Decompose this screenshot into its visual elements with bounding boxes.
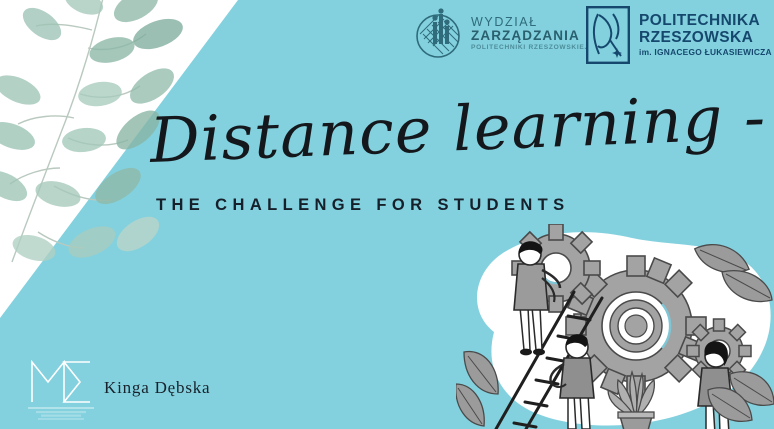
logo-wydzial-line3: POLITECHNIKI RZESZOWSKIEJ bbox=[471, 45, 589, 52]
wydzial-zarzadzania-emblem-icon bbox=[413, 8, 463, 60]
slide-subtitle: THE CHALLENGE FOR STUDENTS bbox=[156, 196, 570, 215]
politechnika-rzeszowska-emblem-icon bbox=[586, 6, 630, 64]
logo-politechnika-text: POLITECHNIKA RZESZOWSKA im. IGNACEGO ŁUK… bbox=[639, 13, 772, 57]
slide-title: Distance learning - bbox=[149, 81, 752, 182]
logo-wydzial-text: WYDZIAŁ ZARZĄDZANIA POLITECHNIKI RZESZOW… bbox=[471, 16, 589, 52]
author-name: Kinga Dębska bbox=[104, 378, 210, 398]
logo-politechnika-line1: POLITECHNIKA bbox=[639, 13, 772, 30]
logo-politechnika-line2: RZESZOWSKA bbox=[639, 30, 772, 47]
logo-wydzial-zarzadzania: WYDZIAŁ ZARZĄDZANIA POLITECHNIKI RZESZOW… bbox=[413, 8, 589, 60]
logo-wydzial-line2: ZARZĄDZANIA bbox=[471, 29, 589, 43]
presentation-slide: WYDZIAŁ ZARZĄDZANIA POLITECHNIKI RZESZOW… bbox=[0, 0, 774, 429]
logo-politechnika-line3: im. IGNACEGO ŁUKASIEWICZA bbox=[639, 48, 772, 57]
me-monogram-logo-icon bbox=[24, 348, 98, 420]
logo-politechnika-rzeszowska: POLITECHNIKA RZESZOWSKA im. IGNACEGO ŁUK… bbox=[586, 6, 772, 64]
people-with-gears-illustration-icon bbox=[456, 224, 774, 429]
